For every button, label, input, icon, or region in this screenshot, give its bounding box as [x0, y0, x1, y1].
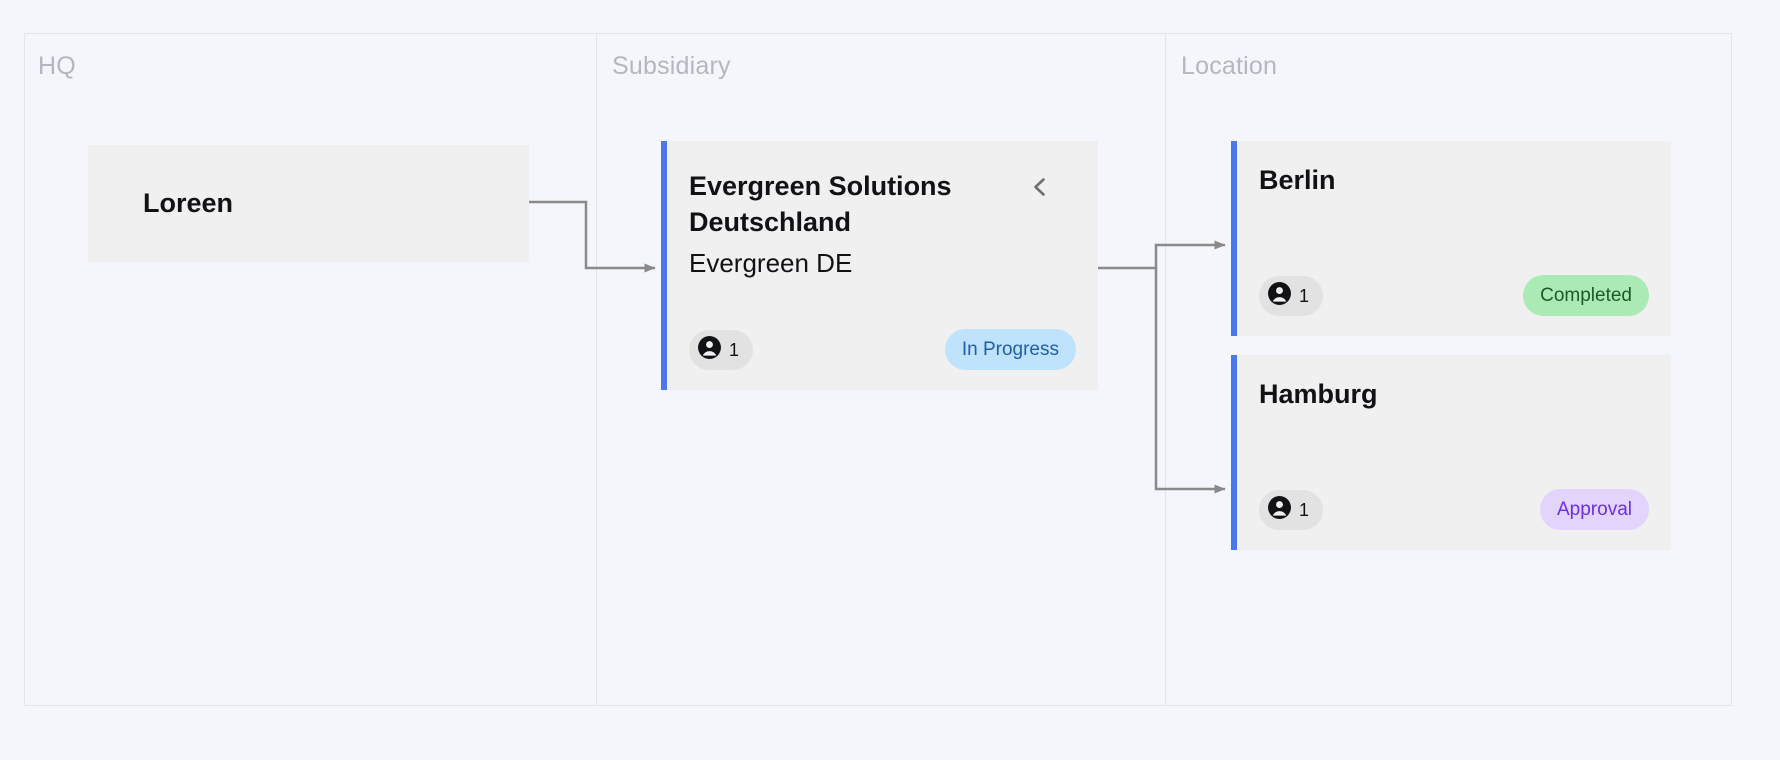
chevron-left-icon[interactable] [1029, 175, 1049, 204]
node-card-subsidiary[interactable]: Evergreen Solutions Deutschland Evergree… [661, 141, 1098, 390]
org-hierarchy-canvas: HQ Subsidiary Location Loreen Evergreen … [0, 0, 1780, 760]
node-title-hq: Loreen [143, 187, 507, 219]
people-count-subsidiary: 1 [729, 341, 739, 359]
lane-title-location: Location [1181, 52, 1277, 81]
lane-title-hq: HQ [38, 52, 76, 81]
status-badge-hamburg[interactable]: Approval [1540, 489, 1649, 530]
node-meta-subsidiary: 1 In Progress [689, 329, 1076, 370]
lane-divider-2 [1165, 34, 1166, 705]
node-card-hq-body: Loreen [88, 187, 529, 219]
lane-divider-1 [596, 34, 597, 705]
node-title-row-subsidiary: Evergreen Solutions Deutschland [689, 169, 1076, 240]
people-chip-hamburg[interactable]: 1 [1259, 490, 1323, 530]
node-card-berlin[interactable]: Berlin 1 Completed [1231, 141, 1671, 336]
people-chip-berlin[interactable]: 1 [1259, 276, 1323, 316]
node-card-hamburg-body: Hamburg 1 Approval [1237, 355, 1671, 550]
node-card-berlin-body: Berlin 1 Completed [1237, 141, 1671, 336]
status-badge-berlin[interactable]: Completed [1523, 275, 1649, 316]
people-count-hamburg: 1 [1299, 501, 1309, 519]
person-icon [1267, 495, 1292, 525]
node-title-hamburg: Hamburg [1259, 377, 1589, 413]
person-icon [697, 335, 722, 365]
node-title-subsidiary: Evergreen Solutions Deutschland [689, 169, 1019, 240]
node-card-hamburg[interactable]: Hamburg 1 Approval [1231, 355, 1671, 550]
person-icon [1267, 281, 1292, 311]
node-meta-berlin: 1 Completed [1259, 275, 1649, 316]
node-title-berlin: Berlin [1259, 163, 1589, 199]
node-meta-hamburg: 1 Approval [1259, 489, 1649, 530]
node-subtitle-subsidiary: Evergreen DE [689, 247, 1076, 280]
status-badge-subsidiary[interactable]: In Progress [945, 329, 1076, 370]
lane-title-subsidiary: Subsidiary [612, 52, 731, 81]
node-card-hq[interactable]: Loreen [88, 145, 529, 262]
people-count-berlin: 1 [1299, 287, 1309, 305]
people-chip-subsidiary[interactable]: 1 [689, 330, 753, 370]
node-card-subsidiary-body: Evergreen Solutions Deutschland Evergree… [667, 141, 1098, 390]
